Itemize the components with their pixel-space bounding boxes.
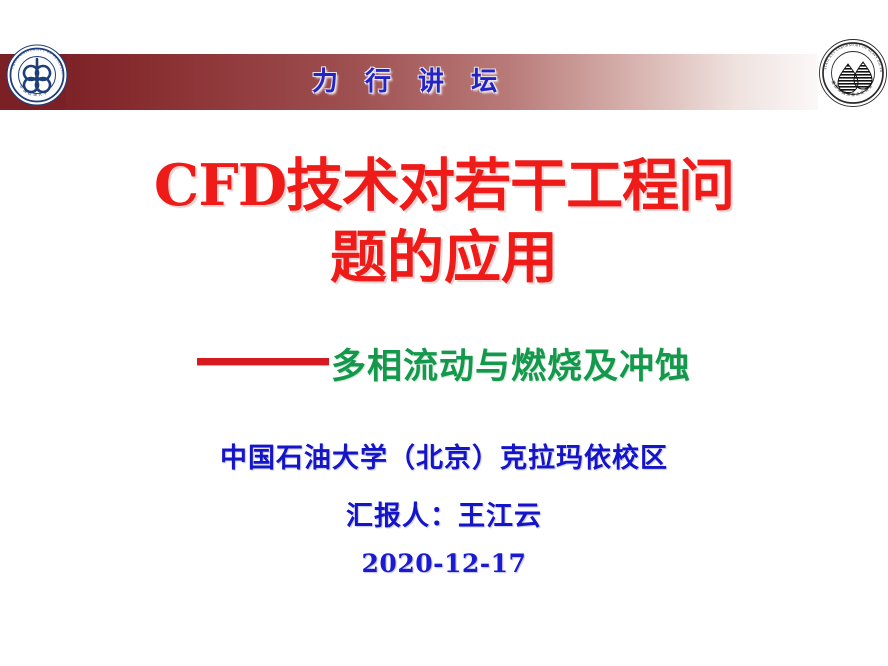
china-university-of-petroleum-logo: CHINA UNIVERSITY OF PETROLEUM 中国石油大学 195… xyxy=(6,44,68,106)
presentation-slide: 力 行 讲 坛 CHINA UNIVERSITY OF PETROLEUM xyxy=(0,0,888,666)
subtitle-text: 多相流动与燃烧及冲蚀 xyxy=(331,338,691,389)
presenter-text: 汇报人：王江云 xyxy=(0,494,888,533)
main-title-line-1: CFD技术对若干工程问 xyxy=(0,150,888,222)
date-text: 2020-12-17 xyxy=(0,549,888,578)
header-banner-title: 力 行 讲 坛 xyxy=(0,54,818,110)
subtitle-dash-rule xyxy=(197,358,329,365)
state-key-laboratory-logo: STATE KEY LABORATORY OF HEAVY OIL PROCES… xyxy=(818,38,888,108)
slide-subtitle: 多相流动与燃烧及冲蚀 xyxy=(0,338,888,389)
svg-text:1953: 1953 xyxy=(34,88,41,92)
affiliation-text: 中国石油大学（北京）克拉玛依校区 xyxy=(0,436,888,475)
main-title-line-2: 题的应用 xyxy=(0,222,888,294)
header-banner: 力 行 讲 坛 xyxy=(0,54,818,110)
slide-main-title: CFD技术对若干工程问 题的应用 xyxy=(0,150,888,294)
